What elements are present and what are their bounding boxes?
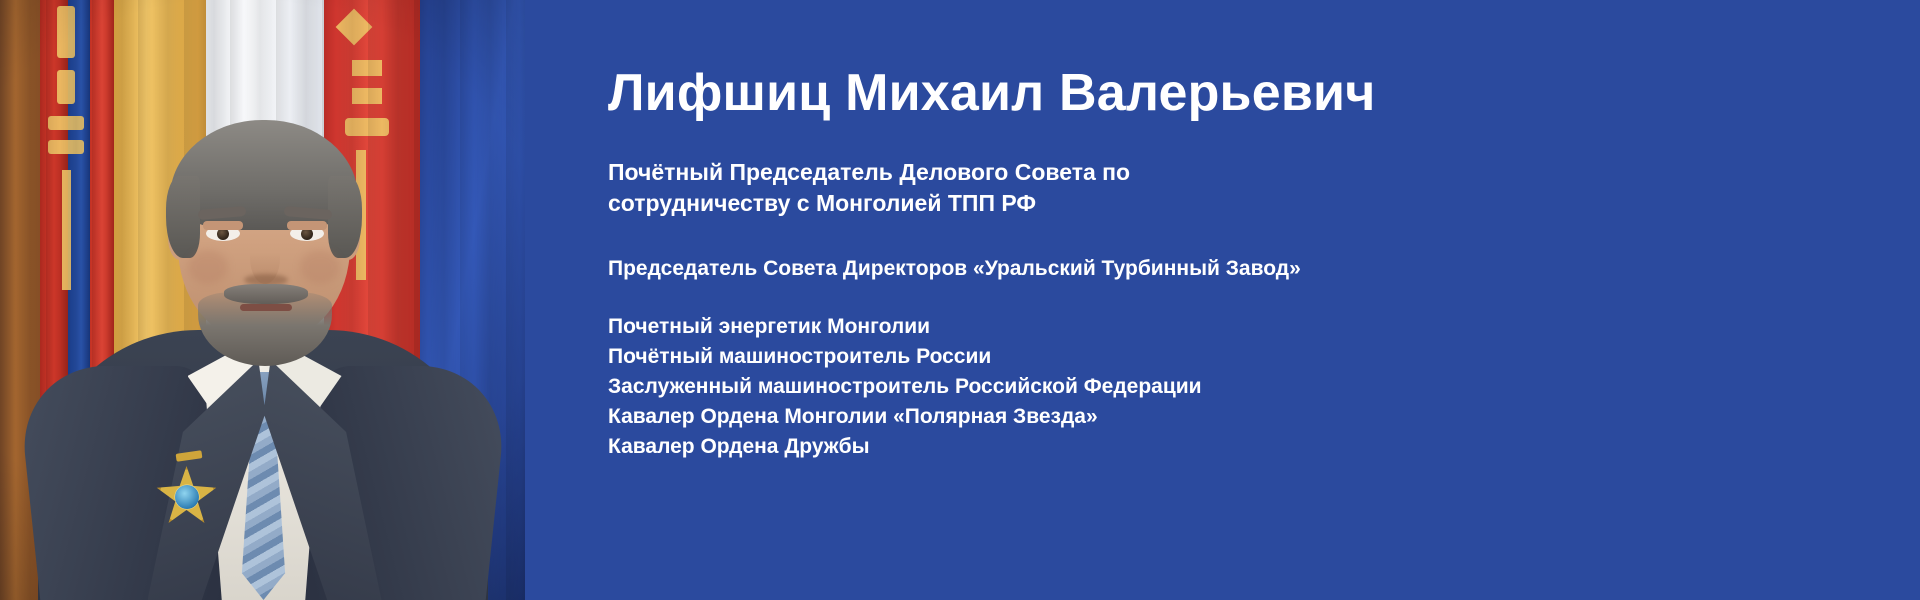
eyelid-left <box>203 221 243 230</box>
honorary-position: Почётный Председатель Делового Совета по… <box>608 157 1248 219</box>
award-item: Заслуженный машиностроитель Российской Ф… <box>608 372 1860 402</box>
award-item: Почетный энергетик Монголии <box>608 312 1860 342</box>
person-figure <box>28 80 498 600</box>
honorary-position-line-1: Почётный Председатель Делового Совета по <box>608 157 1248 188</box>
order-badge-center <box>175 485 199 509</box>
moustache <box>224 284 308 304</box>
eyelid-right <box>287 221 327 230</box>
award-item: Кавалер Ордена Дружбы <box>608 432 1860 462</box>
person-name: Лифшиц Михаил Валерьевич <box>608 66 1860 121</box>
profile-banner: Лифшиц Михаил Валерьевич Почётный Предсе… <box>0 0 1920 600</box>
portrait-photo <box>0 0 525 600</box>
hair-side-right <box>328 176 362 258</box>
mouth <box>240 304 292 311</box>
cheek-shading-left <box>188 250 228 284</box>
board-chairman-role: Председатель Совета Директоров «Уральски… <box>608 255 1860 282</box>
honorary-position-line-2: сотрудничеству с Монголией ТПП РФ <box>608 188 1248 219</box>
award-item: Почётный машиностроитель России <box>608 342 1860 372</box>
awards-list: Почетный энергетик Монголии Почётный маш… <box>608 312 1860 462</box>
hair-side-left <box>166 176 200 258</box>
cheek-shading-right <box>300 250 340 284</box>
profile-text-panel: Лифшиц Михаил Валерьевич Почётный Предсе… <box>525 0 1920 600</box>
award-item: Кавалер Ордена Монголии «Полярная Звезда… <box>608 402 1860 432</box>
